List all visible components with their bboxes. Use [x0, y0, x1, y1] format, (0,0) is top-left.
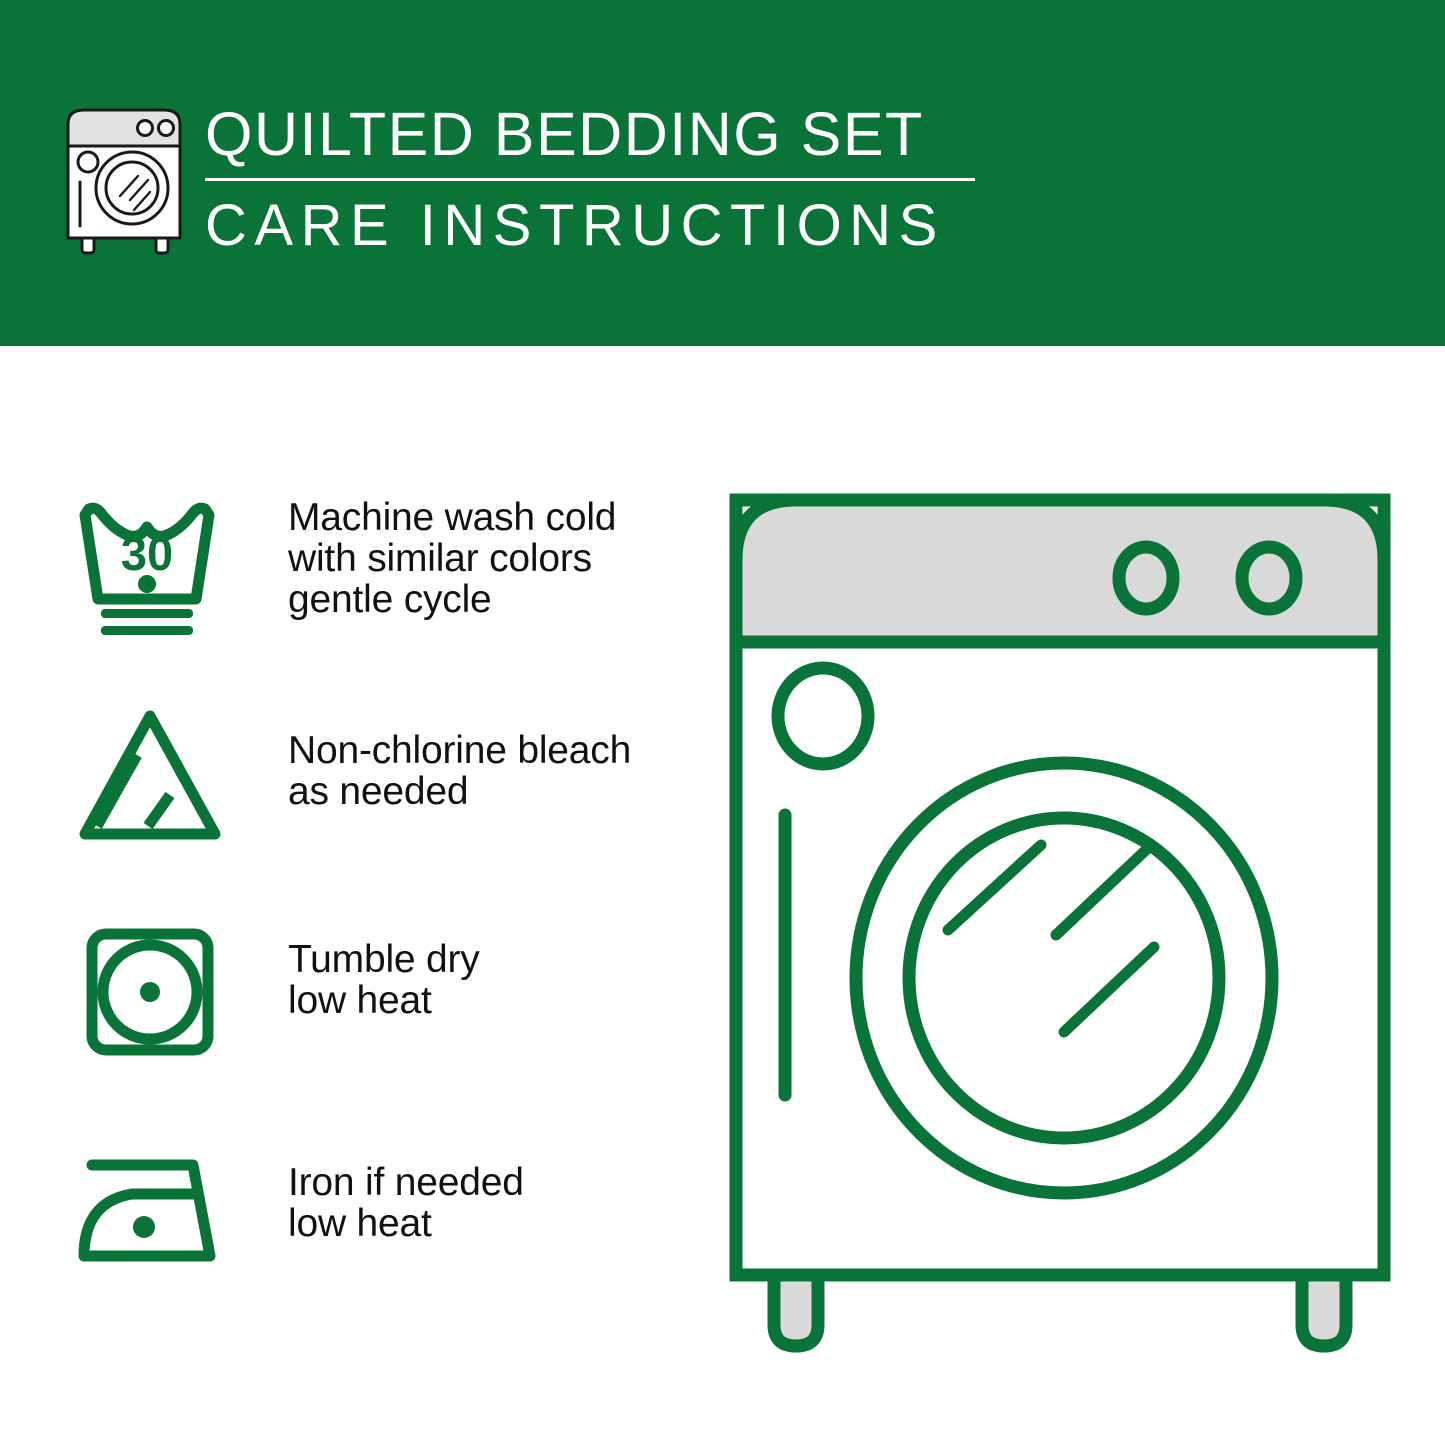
care-text-line: with similar colors — [288, 538, 616, 579]
leg-left — [774, 1275, 818, 1346]
page-subtitle: CARE INSTRUCTIONS — [205, 193, 995, 259]
care-instructions-infographic: QUILTED BEDDING SET CARE INSTRUCTIONS 30… — [0, 0, 1445, 1445]
care-text-line: low heat — [288, 980, 480, 1021]
title-divider — [205, 178, 975, 181]
header-title-block: QUILTED BEDDING SET CARE INSTRUCTIONS — [205, 98, 995, 259]
dial-right — [1242, 547, 1296, 609]
care-text-line: low heat — [288, 1203, 524, 1244]
care-text-tumble-dry: Tumble dry low heat — [288, 917, 480, 1021]
washing-machine-icon — [62, 100, 190, 255]
care-row-iron: Iron if needed low heat — [70, 1132, 690, 1347]
care-text-iron: Iron if needed low heat — [288, 1132, 524, 1244]
care-text-line: gentle cycle — [288, 579, 616, 620]
iron-low-heat-icon — [70, 1132, 230, 1282]
page-title: QUILTED BEDDING SET — [205, 98, 995, 170]
wash-temp-label: 30 — [121, 527, 173, 580]
care-row-bleach: Non-chlorine bleach as needed — [70, 702, 690, 917]
wash-tub-30-gentle-icon: 30 — [70, 487, 230, 637]
care-text-line: Iron if needed — [288, 1162, 524, 1203]
dial-left — [1119, 547, 1173, 609]
care-text-line: Machine wash cold — [288, 497, 616, 538]
non-chlorine-bleach-triangle-icon — [70, 702, 230, 852]
care-instruction-list: 30 Machine wash cold with similar colors… — [70, 487, 690, 1347]
detergent-button — [778, 668, 868, 764]
header-band: QUILTED BEDDING SET CARE INSTRUCTIONS — [0, 0, 1445, 346]
care-row-wash: 30 Machine wash cold with similar colors… — [70, 487, 690, 702]
leg-right — [1302, 1275, 1346, 1346]
door-inner-ring — [909, 818, 1219, 1138]
care-row-tumble-dry: Tumble dry low heat — [70, 917, 690, 1132]
care-text-line: Tumble dry — [288, 939, 480, 980]
care-text-wash: Machine wash cold with similar colors ge… — [288, 487, 616, 620]
tumble-dry-low-heat-icon — [70, 917, 230, 1067]
care-text-line: as needed — [288, 771, 631, 812]
washing-machine-illustration — [716, 470, 1406, 1370]
care-text-bleach: Non-chlorine bleach as needed — [288, 702, 631, 812]
care-text-line: Non-chlorine bleach — [288, 730, 631, 771]
